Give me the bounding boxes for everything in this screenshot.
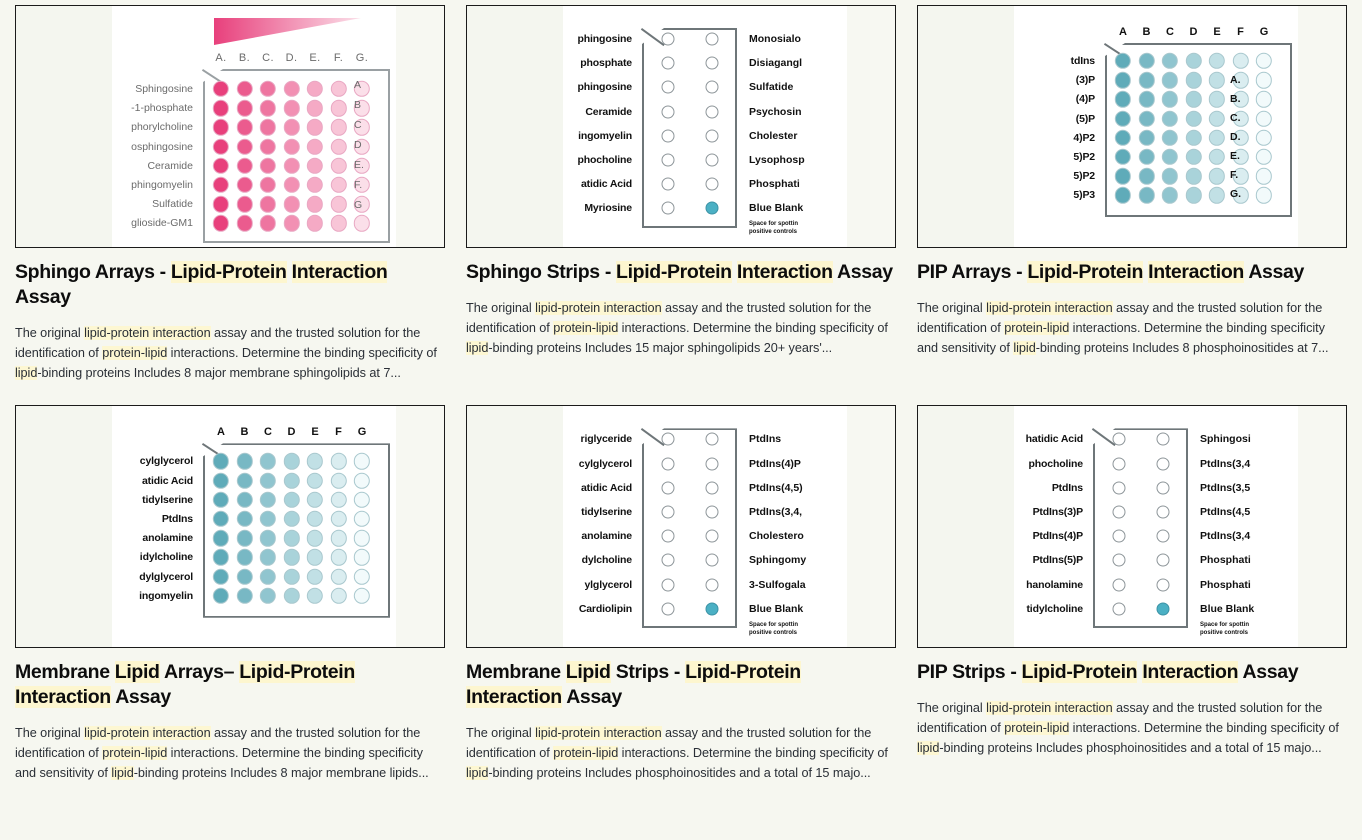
column-label: B bbox=[241, 426, 249, 438]
product-description-pip-arrays: The original lipid-protein interaction a… bbox=[917, 299, 1347, 358]
text-run: PIP Strips - bbox=[917, 661, 1022, 683]
assay-well bbox=[662, 481, 675, 494]
assay-well bbox=[706, 178, 719, 191]
assay-array-figure: ABCDEFGcylglycerolatidic Acidtidylserine… bbox=[16, 406, 444, 647]
product-card-pip-arrays[interactable]: ABCDEFGtdIns(3)P(4)P(5)P4)P25)P25)P25)P3… bbox=[917, 5, 1347, 383]
legend-entry: B bbox=[354, 99, 361, 111]
strip-right-label: Sulfatide bbox=[749, 81, 793, 93]
text-run: Assay bbox=[1238, 661, 1298, 683]
product-description-pip-strips: The original lipid-protein interaction a… bbox=[917, 699, 1347, 758]
assay-well bbox=[706, 433, 719, 446]
assay-well bbox=[662, 33, 675, 46]
legend-entry: E. bbox=[1230, 150, 1240, 162]
strip-left-label: tidylserine bbox=[581, 506, 632, 518]
assay-array-figure: A.B.C.D.E.F.G.Sphingosine-1-phosphatepho… bbox=[16, 6, 444, 247]
strip-left-label: PtdIns bbox=[1052, 482, 1083, 494]
row-label: phorylcholine bbox=[131, 121, 193, 133]
strip-left-label: riglyceride bbox=[581, 433, 632, 445]
product-title-membrane-lipid-arrays[interactable]: Membrane Lipid Arrays– Lipid-Protein Int… bbox=[15, 660, 445, 710]
product-card-pip-strips[interactable]: hatidic AcidSphingosiphocholinePtdIns(3,… bbox=[917, 405, 1347, 783]
strip-left-label: atidic Acid bbox=[581, 178, 632, 190]
highlighted-term: Interaction bbox=[292, 261, 388, 283]
product-thumbnail-membrane-lipid-arrays[interactable]: ABCDEFGcylglycerolatidic Acidtidylserine… bbox=[15, 405, 445, 648]
row-label: Sphingosine bbox=[135, 83, 193, 95]
product-card-sphingo-strips[interactable]: phingosineMonosialophosphateDisiaganglph… bbox=[466, 5, 896, 383]
assay-well bbox=[662, 57, 675, 70]
highlighted-term: lipid-protein interaction bbox=[84, 726, 210, 740]
strip-left-label: tidylcholine bbox=[1026, 603, 1083, 615]
legend-entry: A bbox=[354, 79, 361, 91]
highlighted-term: Interaction bbox=[15, 686, 111, 708]
assay-well bbox=[1113, 505, 1126, 518]
product-card-grid: A.B.C.D.E.F.G.Sphingosine-1-phosphatepho… bbox=[0, 0, 1362, 784]
text-run: Sphingo Strips - bbox=[466, 261, 616, 283]
product-thumbnail-membrane-lipid-strips[interactable]: riglyceridePtdInscylglycerolPtdIns(4)Pat… bbox=[466, 405, 896, 648]
strip-left-label: PtdIns(4)P bbox=[1033, 530, 1083, 542]
highlighted-term: lipid bbox=[111, 766, 133, 780]
strip-left-label: anolamine bbox=[581, 530, 632, 542]
row-label: tidylserine bbox=[142, 494, 193, 506]
assay-well bbox=[706, 530, 719, 543]
highlighted-term: lipid bbox=[917, 741, 939, 755]
spotting-note: Space for spottinpositive controls bbox=[1200, 621, 1249, 637]
column-label: D bbox=[1190, 26, 1198, 38]
legend-entry: C bbox=[354, 119, 362, 131]
assay-well bbox=[662, 202, 675, 215]
text-run: interactions. Determine the binding spec… bbox=[618, 321, 888, 335]
column-label: B. bbox=[239, 52, 250, 64]
product-title-sphingo-arrays[interactable]: Sphingo Arrays - Lipid-Protein Interacti… bbox=[15, 260, 445, 310]
assay-strip-plate bbox=[642, 28, 737, 228]
column-label: A bbox=[1119, 26, 1127, 38]
strip-right-label: PtdIns(3,4, bbox=[749, 506, 802, 518]
product-card-sphingo-arrays[interactable]: A.B.C.D.E.F.G.Sphingosine-1-phosphatepho… bbox=[15, 5, 445, 383]
strip-left-label: Myriosine bbox=[584, 202, 632, 214]
text-run: Sphingo Arrays - bbox=[15, 261, 171, 283]
assay-well bbox=[706, 505, 719, 518]
row-label: cylglycerol bbox=[140, 455, 193, 467]
product-title-pip-arrays[interactable]: PIP Arrays - Lipid-Protein Interaction A… bbox=[917, 260, 1347, 285]
column-label: C. bbox=[262, 52, 274, 64]
column-label: A bbox=[217, 426, 225, 438]
legend-entry: D bbox=[354, 139, 362, 151]
highlighted-term: protein-lipid bbox=[553, 321, 618, 335]
strip-right-label: PtdIns(3,5 bbox=[1200, 482, 1250, 494]
legend-entry: F. bbox=[354, 179, 362, 191]
highlighted-term: Interaction bbox=[737, 261, 833, 283]
row-label: PtdIns bbox=[162, 513, 193, 525]
assay-well bbox=[1157, 433, 1170, 446]
highlighted-term: lipid-protein interaction bbox=[535, 726, 661, 740]
column-label: A. bbox=[215, 52, 226, 64]
strip-left-label: phingosine bbox=[578, 33, 633, 45]
row-label: anolamine bbox=[142, 532, 193, 544]
highlighted-term: Lipid-Protein bbox=[1022, 661, 1138, 683]
column-label: D bbox=[288, 426, 296, 438]
strip-left-label: PtdIns(5)P bbox=[1033, 554, 1083, 566]
strip-right-label: PtdIns(4,5 bbox=[1200, 506, 1250, 518]
strip-left-label: dylcholine bbox=[582, 554, 632, 566]
column-label: C bbox=[264, 426, 272, 438]
row-label: -1-phosphate bbox=[131, 102, 193, 114]
row-label: phingomyelin bbox=[131, 179, 193, 191]
strip-left-label: phingosine bbox=[578, 81, 633, 93]
strip-right-label: Phosphati bbox=[749, 178, 800, 190]
text-run: Assay bbox=[111, 686, 171, 708]
column-label: B bbox=[1143, 26, 1151, 38]
text-run: Assay bbox=[833, 261, 893, 283]
legend-entry: F. bbox=[1230, 169, 1238, 181]
highlighted-term: Lipid bbox=[566, 661, 611, 683]
product-card-membrane-lipid-arrays[interactable]: ABCDEFGcylglycerolatidic Acidtidylserine… bbox=[15, 405, 445, 783]
assay-well bbox=[662, 602, 675, 615]
product-description-membrane-lipid-strips: The original lipid-protein interaction a… bbox=[466, 724, 896, 783]
text-run: interactions. Determine the binding spec… bbox=[618, 746, 888, 760]
text-run: Membrane bbox=[15, 661, 115, 683]
column-label: D. bbox=[286, 52, 298, 64]
highlighted-term: lipid-protein interaction bbox=[535, 301, 661, 315]
assay-well bbox=[662, 154, 675, 167]
strip-right-label: Phosphati bbox=[1200, 554, 1251, 566]
text-run: Assay bbox=[562, 686, 622, 708]
highlighted-term: lipid bbox=[1013, 341, 1035, 355]
text-run: The original bbox=[917, 701, 986, 715]
text-run: Membrane bbox=[466, 661, 566, 683]
row-label: osphingosine bbox=[131, 141, 193, 153]
assay-well bbox=[706, 202, 719, 215]
highlighted-term: Lipid-Protein bbox=[616, 261, 732, 283]
highlighted-term: Lipid bbox=[115, 661, 160, 683]
row-label: dylglycerol bbox=[139, 571, 193, 583]
row-label: (5)P bbox=[1076, 113, 1095, 125]
strip-left-label: phocholine bbox=[578, 154, 633, 166]
strip-right-label: Psychosin bbox=[749, 106, 802, 118]
strip-right-label: PtdIns(3,4 bbox=[1200, 530, 1250, 542]
column-label: C bbox=[1166, 26, 1174, 38]
text-run: -binding proteins Includes phosphoinosit… bbox=[939, 741, 1321, 755]
assay-well bbox=[706, 81, 719, 94]
assay-well bbox=[662, 178, 675, 191]
strip-right-label: Phosphati bbox=[1200, 579, 1251, 591]
strip-left-label: phocholine bbox=[1029, 458, 1084, 470]
legend-entry: B. bbox=[1230, 93, 1241, 105]
text-run: interactions. Determine the binding spec… bbox=[167, 346, 437, 360]
strip-right-label: Cholestero bbox=[749, 530, 804, 542]
assay-well bbox=[706, 154, 719, 167]
legend-entry: E. bbox=[354, 159, 364, 171]
highlighted-term: Lipid-Protein bbox=[171, 261, 287, 283]
text-run: -binding proteins Includes 15 major sphi… bbox=[488, 341, 832, 355]
legend-entry: A. bbox=[1230, 74, 1241, 86]
text-run: Assay bbox=[1244, 261, 1304, 283]
column-label: F bbox=[1237, 26, 1244, 38]
row-label: Sulfatide bbox=[152, 198, 193, 210]
spotting-note: Space for spottinpositive controls bbox=[749, 220, 798, 236]
column-label: G bbox=[358, 426, 367, 438]
gradient-wedge bbox=[214, 18, 361, 45]
row-label: tdIns bbox=[1071, 55, 1095, 67]
strip-right-label: 3-Sulfogala bbox=[749, 579, 806, 591]
assay-well bbox=[662, 433, 675, 446]
highlighted-term: protein-lipid bbox=[102, 746, 167, 760]
product-thumbnail-sphingo-strips[interactable]: phingosineMonosialophosphateDisiaganglph… bbox=[466, 5, 896, 248]
strip-left-label: PtdIns(3)P bbox=[1033, 506, 1083, 518]
assay-well bbox=[1157, 457, 1170, 470]
text-run: The original bbox=[15, 326, 84, 340]
strip-right-label: Lysophosp bbox=[749, 154, 805, 166]
spotting-note: Space for spottinpositive controls bbox=[749, 621, 798, 637]
product-title-membrane-lipid-strips[interactable]: Membrane Lipid Strips - Lipid-Protein In… bbox=[466, 660, 896, 710]
assay-well bbox=[662, 530, 675, 543]
strip-left-label: Ceramide bbox=[585, 106, 632, 118]
strip-right-label: Disiagangl bbox=[749, 57, 802, 69]
product-thumbnail-sphingo-arrays[interactable]: A.B.C.D.E.F.G.Sphingosine-1-phosphatepho… bbox=[15, 5, 445, 248]
strip-right-label: Sphingomy bbox=[749, 554, 806, 566]
strip-right-label: Blue Blank bbox=[1200, 603, 1254, 615]
legend-entry: G. bbox=[1230, 188, 1241, 200]
assay-well bbox=[1113, 530, 1126, 543]
strip-right-label: PtdIns(4)P bbox=[749, 458, 801, 470]
product-description-membrane-lipid-arrays: The original lipid-protein interaction a… bbox=[15, 724, 445, 783]
highlighted-term: lipid-protein interaction bbox=[84, 326, 210, 340]
highlighted-term: lipid-protein interaction bbox=[986, 701, 1112, 715]
highlighted-term: protein-lipid bbox=[1004, 721, 1069, 735]
strip-left-label: atidic Acid bbox=[581, 482, 632, 494]
assay-well bbox=[1157, 602, 1170, 615]
product-title-pip-strips[interactable]: PIP Strips - Lipid-Protein Interaction A… bbox=[917, 660, 1347, 685]
assay-strip-plate bbox=[1093, 428, 1188, 628]
assay-strip-figure: riglyceridePtdInscylglycerolPtdIns(4)Pat… bbox=[467, 406, 895, 647]
product-title-sphingo-strips[interactable]: Sphingo Strips - Lipid-Protein Interacti… bbox=[466, 260, 896, 285]
row-label: 5)P2 bbox=[1073, 170, 1095, 182]
text-run: -binding proteins Includes 8 major membr… bbox=[134, 766, 429, 780]
text-run: Assay bbox=[15, 286, 71, 308]
row-label: idylcholine bbox=[140, 551, 193, 563]
highlighted-term: lipid bbox=[466, 341, 488, 355]
assay-well bbox=[1113, 433, 1126, 446]
assay-strip-figure: phingosineMonosialophosphateDisiaganglph… bbox=[467, 6, 895, 247]
assay-well bbox=[1113, 481, 1126, 494]
column-label: G bbox=[1260, 26, 1269, 38]
highlighted-term: Lipid-Protein bbox=[1027, 261, 1143, 283]
highlighted-term: lipid bbox=[15, 366, 37, 380]
product-description-sphingo-strips: The original lipid-protein interaction a… bbox=[466, 299, 896, 358]
strip-left-label: phosphate bbox=[580, 57, 632, 69]
assay-well bbox=[706, 481, 719, 494]
row-label: 5)P3 bbox=[1073, 189, 1095, 201]
text-run: interactions. Determine the binding spec… bbox=[1069, 721, 1339, 735]
text-run: PIP Arrays - bbox=[917, 261, 1027, 283]
strip-right-label: Blue Blank bbox=[749, 603, 803, 615]
assay-well bbox=[1113, 554, 1126, 567]
assay-well bbox=[1113, 578, 1126, 591]
column-label: E. bbox=[309, 52, 320, 64]
column-label: F. bbox=[334, 52, 343, 64]
strip-right-label: PtdIns(4,5) bbox=[749, 482, 803, 494]
highlighted-term: protein-lipid bbox=[1004, 321, 1069, 335]
row-label: atidic Acid bbox=[142, 475, 193, 487]
assay-strip-figure: hatidic AcidSphingosiphocholinePtdIns(3,… bbox=[918, 406, 1346, 647]
assay-well bbox=[1157, 481, 1170, 494]
row-label: 5)P2 bbox=[1073, 151, 1095, 163]
assay-well bbox=[706, 602, 719, 615]
strip-right-label: Sphingosi bbox=[1200, 433, 1251, 445]
strip-left-label: ylglycerol bbox=[584, 579, 632, 591]
row-label: (3)P bbox=[1076, 74, 1095, 86]
assay-well bbox=[706, 33, 719, 46]
product-thumbnail-pip-strips[interactable]: hatidic AcidSphingosiphocholinePtdIns(3,… bbox=[917, 405, 1347, 648]
assay-well bbox=[706, 578, 719, 591]
text-run: -binding proteins Includes 8 phosphoinos… bbox=[1036, 341, 1329, 355]
strip-left-label: hatidic Acid bbox=[1026, 433, 1083, 445]
assay-well bbox=[1113, 602, 1126, 615]
column-label: E bbox=[1213, 26, 1220, 38]
assay-well bbox=[662, 81, 675, 94]
highlighted-term: protein-lipid bbox=[102, 346, 167, 360]
highlighted-term: lipid-protein interaction bbox=[986, 301, 1112, 315]
assay-well bbox=[1157, 554, 1170, 567]
assay-well bbox=[706, 554, 719, 567]
highlighted-term: Lipid-Protein bbox=[239, 661, 355, 683]
text-run: Arrays– bbox=[160, 661, 240, 683]
assay-well bbox=[1157, 505, 1170, 518]
highlighted-term: Interaction bbox=[466, 686, 562, 708]
strip-left-label: hanolamine bbox=[1026, 579, 1083, 591]
product-thumbnail-pip-arrays[interactable]: ABCDEFGtdIns(3)P(4)P(5)P4)P25)P25)P25)P3… bbox=[917, 5, 1347, 248]
text-run: -binding proteins Includes 8 major membr… bbox=[37, 366, 400, 380]
column-label: G. bbox=[356, 52, 368, 64]
strip-right-label: PtdIns bbox=[749, 433, 781, 445]
text-run: The original bbox=[466, 726, 535, 740]
strip-right-label: PtdIns(3,4 bbox=[1200, 458, 1250, 470]
highlighted-term: Lipid-Protein bbox=[685, 661, 801, 683]
assay-well bbox=[706, 129, 719, 142]
assay-well bbox=[662, 129, 675, 142]
row-label: (4)P bbox=[1076, 93, 1095, 105]
column-label: F bbox=[335, 426, 342, 438]
text-run bbox=[287, 261, 292, 283]
highlighted-term: lipid bbox=[466, 766, 488, 780]
strip-right-label: Cholester bbox=[749, 130, 797, 142]
row-label: glioside-GM1 bbox=[131, 217, 193, 229]
legend-entry: D. bbox=[1230, 131, 1241, 143]
assay-well bbox=[706, 57, 719, 70]
assay-strip-plate bbox=[642, 428, 737, 628]
highlighted-term: Interaction bbox=[1148, 261, 1244, 283]
strip-right-label: Blue Blank bbox=[749, 202, 803, 214]
strip-right-label: Monosialo bbox=[749, 33, 801, 45]
assay-well bbox=[662, 457, 675, 470]
assay-well bbox=[662, 554, 675, 567]
strip-left-label: ingomyelin bbox=[578, 130, 632, 142]
legend-entry: G bbox=[354, 199, 362, 211]
text-run: Strips - bbox=[611, 661, 686, 683]
text-run: -binding proteins Includes phosphoinosit… bbox=[488, 766, 870, 780]
text-run: The original bbox=[15, 726, 84, 740]
row-label: ingomyelin bbox=[139, 590, 193, 602]
highlighted-term: protein-lipid bbox=[553, 746, 618, 760]
row-label: Ceramide bbox=[147, 160, 193, 172]
assay-well bbox=[1157, 578, 1170, 591]
assay-well bbox=[706, 105, 719, 118]
row-label: 4)P2 bbox=[1073, 132, 1095, 144]
column-label: E bbox=[311, 426, 318, 438]
assay-well bbox=[1113, 457, 1126, 470]
assay-well bbox=[662, 505, 675, 518]
assay-well bbox=[1157, 530, 1170, 543]
text-run: The original bbox=[917, 301, 986, 315]
strip-left-label: Cardiolipin bbox=[579, 603, 632, 615]
assay-well bbox=[706, 457, 719, 470]
strip-left-label: cylglycerol bbox=[579, 458, 632, 470]
assay-array-figure: ABCDEFGtdIns(3)P(4)P(5)P4)P25)P25)P25)P3… bbox=[918, 6, 1346, 247]
assay-well bbox=[662, 578, 675, 591]
assay-well bbox=[662, 105, 675, 118]
product-description-sphingo-arrays: The original lipid-protein interaction a… bbox=[15, 324, 445, 383]
text-run: The original bbox=[466, 301, 535, 315]
legend-entry: C. bbox=[1230, 112, 1241, 124]
product-card-membrane-lipid-strips[interactable]: riglyceridePtdInscylglycerolPtdIns(4)Pat… bbox=[466, 405, 896, 783]
highlighted-term: Interaction bbox=[1142, 661, 1238, 683]
